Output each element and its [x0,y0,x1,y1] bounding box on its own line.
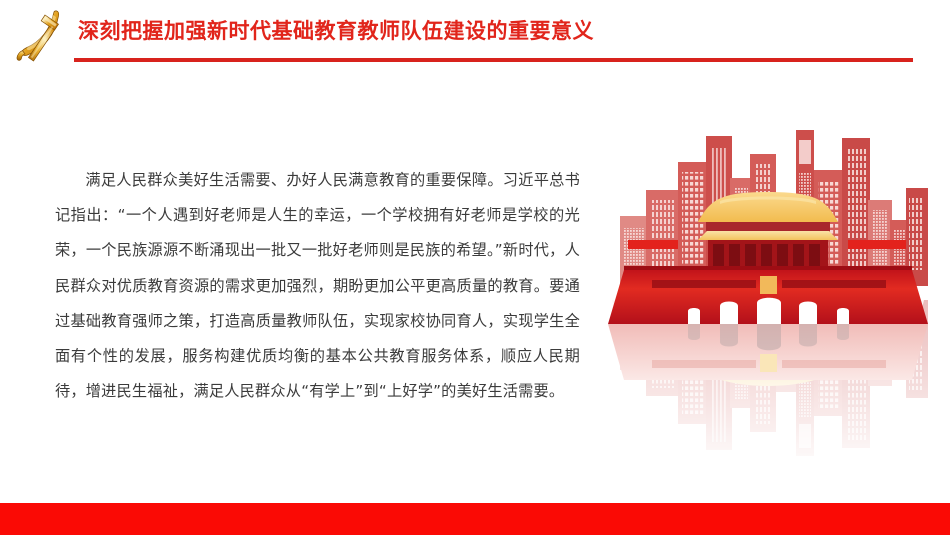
page-title: 深刻把握加强新时代基础教育教师队伍建设的重要意义 [78,17,594,45]
cpc-hammer-sickle-emblem-icon [10,6,68,66]
slide-root: 深刻把握加强新时代基础教育教师队伍建设的重要意义 满足人民群众美好生活需要、办好… [0,0,950,535]
tiananmen-gate-house [698,192,838,270]
footer-red-bar [0,503,950,535]
header-divider-rule [74,58,913,62]
tiananmen-city-skyline-illustration [600,128,935,458]
content-paragraph: 满足人民群众美好生活需要、办好人民满意教育的重要保障。习近平总书记指出：“一个人… [55,163,580,409]
content-text-block: 满足人民群众美好生活需要、办好人民满意教育的重要保障。习近平总书记指出：“一个人… [55,163,580,409]
slide-header: 深刻把握加强新时代基础教育教师队伍建设的重要意义 [0,0,950,70]
tiananmen-red-wall [608,266,928,380]
